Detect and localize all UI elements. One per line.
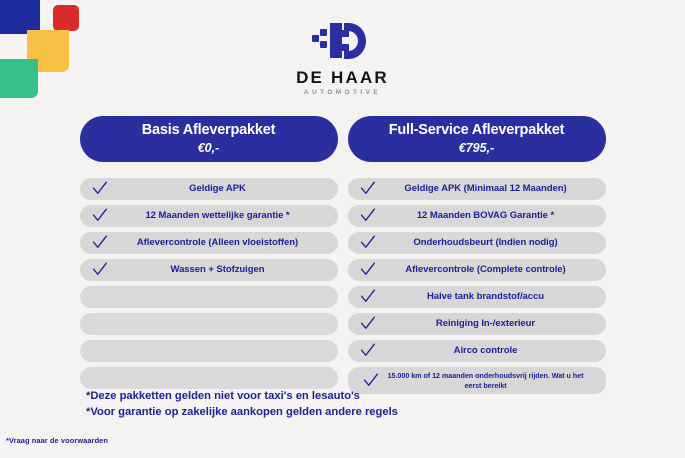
feature-row-empty xyxy=(80,367,338,389)
feature-row-empty xyxy=(80,340,338,362)
brand-name: DE HAAR xyxy=(296,69,389,86)
feature-label: Reiniging In-/exterieur xyxy=(410,319,543,329)
feature-row: Geldige APK xyxy=(80,178,338,200)
checkmark-icon xyxy=(359,262,376,279)
checkmark-icon xyxy=(359,208,376,225)
feature-list-basis: Geldige APK 12 Maanden wettelijke garant… xyxy=(80,178,338,389)
feature-label: Geldige APK xyxy=(163,184,254,194)
bottom-note: *Vraag naar de voorwaarden xyxy=(6,436,108,445)
checkmark-icon xyxy=(359,289,376,306)
feature-row: Aflevercontrole (Alleen vloeistoffen) xyxy=(80,232,338,254)
feature-row: Aflevercontrole (Complete controle) xyxy=(348,259,606,281)
checkmark-icon xyxy=(91,262,108,279)
checkmark-icon xyxy=(362,372,379,389)
brand-tagline: AUTOMOTIVE xyxy=(304,90,381,97)
feature-row: 12 Maanden wettelijke garantie * xyxy=(80,205,338,227)
feature-label: Wassen + Stofzuigen xyxy=(145,265,273,275)
feature-label: Aflevercontrole (Alleen vloeistoffen) xyxy=(111,238,306,248)
footnote-line-1: *Deze pakketten gelden niet voor taxi's … xyxy=(86,388,398,404)
checkmark-icon xyxy=(359,181,376,198)
feature-label: 12 Maanden wettelijke garantie * xyxy=(119,211,297,221)
footnotes: *Deze pakketten gelden niet voor taxi's … xyxy=(86,388,398,420)
feature-list-full-service: Geldige APK (Minimaal 12 Maanden) 12 Maa… xyxy=(348,178,606,394)
feature-row: 12 Maanden BOVAG Garantie * xyxy=(348,205,606,227)
checkmark-icon xyxy=(359,316,376,333)
feature-label: Aflevercontrole (Complete controle) xyxy=(379,265,573,275)
footnote-line-2: *Voor garantie op zakelijke aankopen gel… xyxy=(86,404,398,420)
checkmark-icon xyxy=(359,343,376,360)
feature-label: Airco controle xyxy=(428,346,526,356)
package-column-full-service: Full-Service Afleverpakket €795,- Geldig… xyxy=(348,116,606,394)
feature-label: 12 Maanden BOVAG Garantie * xyxy=(391,211,562,221)
feature-row-empty xyxy=(80,313,338,335)
feature-row-empty xyxy=(80,286,338,308)
feature-row: Geldige APK (Minimaal 12 Maanden) xyxy=(348,178,606,200)
feature-row: Wassen + Stofzuigen xyxy=(80,259,338,281)
feature-label: Geldige APK (Minimaal 12 Maanden) xyxy=(378,184,574,194)
package-price: €0,- xyxy=(198,142,220,156)
feature-row: Onderhoudsbeurt (Indien nodig) xyxy=(348,232,606,254)
package-comparison: Basis Afleverpakket €0,- Geldige APK 12 … xyxy=(0,116,685,394)
checkmark-icon xyxy=(91,208,108,225)
checkmark-icon xyxy=(91,181,108,198)
package-column-basis: Basis Afleverpakket €0,- Geldige APK 12 … xyxy=(80,116,338,394)
brand-logo: DE HAAR AUTOMOTIVE xyxy=(0,20,685,97)
feature-row: Airco controle xyxy=(348,340,606,362)
feature-label: Onderhoudsbeurt (Indien nodig) xyxy=(387,238,565,248)
de-haar-d-monogram-icon xyxy=(312,20,374,62)
feature-label: Halve tank brandstof/accu xyxy=(401,292,552,302)
checkmark-icon xyxy=(359,235,376,252)
package-title: Basis Afleverpakket xyxy=(142,123,276,139)
feature-row: Halve tank brandstof/accu xyxy=(348,286,606,308)
package-price: €795,- xyxy=(459,142,494,156)
checkmark-icon xyxy=(91,235,108,252)
package-header-full-service: Full-Service Afleverpakket €795,- xyxy=(348,116,606,162)
package-header-basis: Basis Afleverpakket €0,- xyxy=(80,116,338,162)
package-title: Full-Service Afleverpakket xyxy=(389,123,565,139)
feature-row: Reiniging In-/exterieur xyxy=(348,313,606,335)
